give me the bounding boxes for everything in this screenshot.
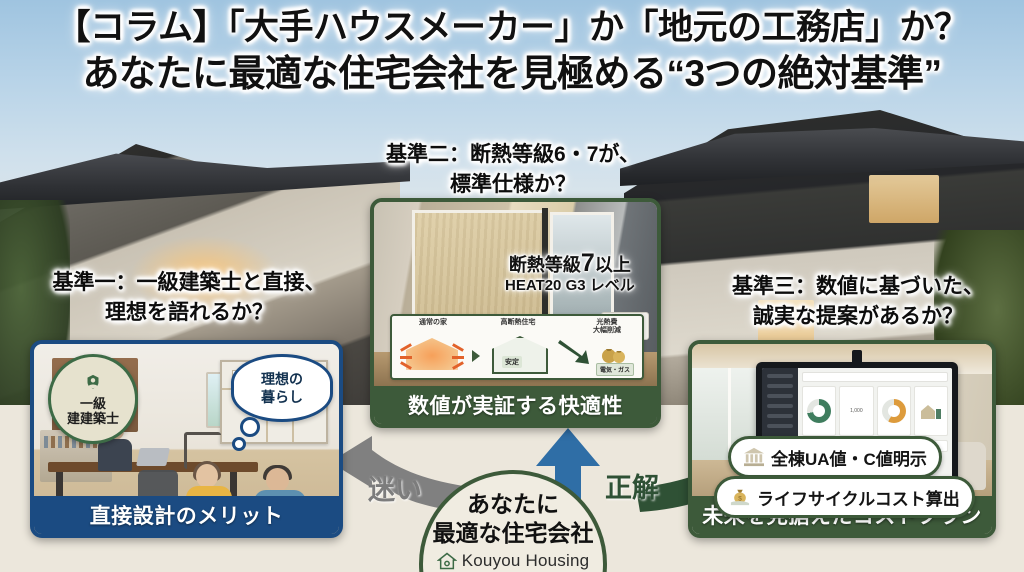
architect-badge-line-2: 建建築士: [67, 411, 119, 426]
client-male-head: [266, 468, 289, 492]
heat20-level-line: HEAT20 G3 レベル: [505, 276, 635, 296]
thermal-comparison-diagram: 通常の家 高断熱住宅 光熱費 大幅削減 安定 電気・ガス: [390, 314, 644, 380]
right-house-window: [869, 175, 939, 223]
laptop-icon: [136, 448, 170, 466]
diagram-stable-label: 安定: [502, 356, 522, 368]
criterion-1-heading: 基準一：一級建築士と直接、 理想を語れるか？: [24, 268, 354, 328]
bubble-line-1: 理想の: [261, 370, 303, 388]
diagram-down-arrow: [558, 336, 592, 366]
metric-number: 1,000: [850, 408, 863, 414]
center-line-2: 最適な住宅会社: [433, 518, 594, 548]
diagram-progress-triangle: [472, 350, 480, 362]
title-line-1: 【コラム】「大手ハウスメーカー」か「地元の工務店」か？: [0, 6, 1024, 50]
architect-body: [98, 439, 132, 471]
heat-loss-arrows: [400, 342, 464, 368]
dashboard-metric-cards: 1,000: [802, 386, 948, 436]
feature-pill-ua-c: 全棟UA値・C値明示: [728, 436, 942, 478]
house-logo-icon: [437, 551, 457, 571]
diagram-label-cost-reduction: 大幅削減: [576, 327, 638, 335]
title-line-2: あなたに最適な住宅会社を見極める“3つの絶対基準”: [0, 50, 1024, 98]
monitor-stand: [852, 350, 862, 364]
architect-badge-line-1: 一級: [80, 396, 106, 411]
criterion-2-heading: 基準二：断熱等級6・7が、 標準仕様か？: [348, 140, 678, 200]
criterion-2-row2: 標準仕様か？: [348, 170, 678, 200]
brand-name: Kouyou Housing: [462, 551, 590, 571]
insulated-house-shape: [492, 336, 548, 374]
criterion-1-row1: 基準一：一級建築士と直接、: [53, 271, 326, 294]
metric-card-value: 1,000: [839, 386, 873, 436]
infographic-canvas: 【コラム】「大手ハウスメーカー」か「地元の工務店」か？ あなたに最適な住宅会社を…: [0, 0, 1024, 572]
diagram-label-insulated-house: 高断熱住宅: [482, 319, 554, 327]
criterion-1-row2: 理想を語れるか？: [24, 298, 354, 328]
criterion-3-row1: 基準三：数値に基づいた、: [732, 275, 984, 298]
architect-person-icon: [82, 373, 104, 395]
metric-card-c: [877, 386, 911, 436]
feature-pill-ua-c-label: 全棟UA値・C値明示: [771, 445, 927, 470]
architect-badge: 一級 建建築士: [48, 354, 138, 444]
center-line-1: あなたに: [467, 490, 559, 518]
diagram-money-bags-icon: [600, 342, 628, 364]
criterion-2-row1: 基準二：断熱等級6・7が、: [386, 143, 640, 166]
metric-card-ua: [802, 386, 836, 436]
mid-card-banner: 数値が実証する快適性: [374, 386, 657, 424]
left-card-banner: 直接設計のメリット: [34, 496, 339, 534]
insulation-grade-prefix: 断熱等級: [509, 255, 581, 275]
page-title: 【コラム】「大手ハウスメーカー」か「地元の工務店」か？ あなたに最適な住宅会社を…: [0, 6, 1024, 98]
right-card: 1,000: [688, 340, 996, 538]
insulation-grade-number: 7: [581, 249, 595, 277]
dashboard-toolbar: [802, 372, 948, 382]
brand-lockup: Kouyou Housing: [437, 551, 590, 571]
metric-card-lifecycle: [914, 386, 948, 436]
mid-card: 通常の家 高断熱住宅 光熱費 大幅削減 安定 電気・ガス 数値が実証する快適性: [370, 198, 661, 428]
house-chart-icon: [918, 401, 944, 421]
feature-pill-lifecycle-label: ライフサイクルコスト算出: [757, 485, 960, 510]
client-female-head: [196, 464, 218, 488]
criterion-3-heading: 基準三：数値に基づいた、 誠実な提案があるか？: [700, 272, 1016, 332]
bank-icon: [743, 447, 765, 467]
insulation-grade-suffix: 以上: [595, 255, 631, 275]
diagram-label-normal-house: 通常の家: [400, 319, 466, 327]
arrow-label-left: 迷い: [368, 468, 422, 507]
insulation-spec-label: 断熱等級7以上 HEAT20 G3 レベル: [505, 252, 635, 296]
arrow-label-right: 正解: [605, 466, 659, 505]
left-card: 一級 建建築士 理想の 暮らし 直接設計のメリット: [30, 340, 343, 538]
diagram-label-utility-cost: 光熱費: [576, 319, 638, 327]
ideal-life-bubble: 理想の 暮らし: [231, 354, 333, 422]
feature-pill-lifecycle: $ ライフサイクルコスト算出: [714, 476, 975, 518]
bubble-line-2: 暮らし: [261, 388, 303, 406]
donut-chart-ua: [807, 399, 831, 423]
money-bag-icon: $: [729, 487, 751, 507]
diagram-cost-chip: 電気・ガス: [596, 363, 634, 376]
criterion-3-row2: 誠実な提案があるか？: [700, 302, 1016, 332]
insulation-grade-line: 断熱等級7以上: [505, 252, 635, 276]
donut-chart-c: [882, 399, 906, 423]
